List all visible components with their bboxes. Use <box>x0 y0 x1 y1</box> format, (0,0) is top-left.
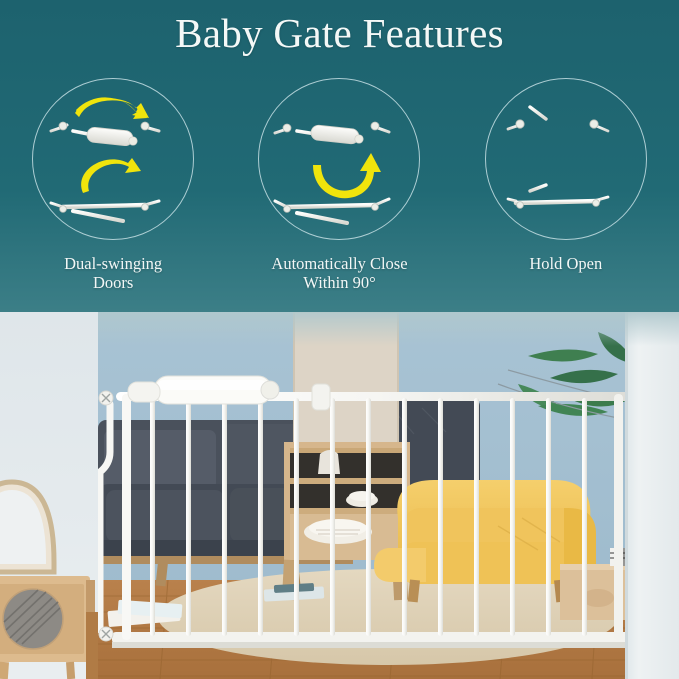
page-title: Baby Gate Features <box>0 6 679 60</box>
feature-circle-2 <box>258 78 420 240</box>
feature-caption-3: Hold Open <box>529 254 602 273</box>
swing-arrow-top-icon <box>75 97 149 119</box>
feature-circle-3 <box>485 78 647 240</box>
feature-caption-2-line2: Within 90° <box>271 273 407 292</box>
gate-latch <box>312 384 330 410</box>
gate-dual-swing-icon <box>33 79 193 239</box>
gate-auto-close-icon <box>259 79 419 239</box>
vase-decor <box>318 450 340 474</box>
feature-caption-1: Dual-swinging Doors <box>64 254 162 292</box>
feature-circle-1 <box>32 78 194 240</box>
feature-hold-open: Hold Open <box>466 78 666 273</box>
gate-hold-open-icon <box>486 79 646 239</box>
feature-caption-2: Automatically Close Within 90° <box>271 254 407 292</box>
right-wall <box>625 312 679 679</box>
product-photo <box>98 312 679 679</box>
feature-dual-swinging-doors: Dual-swinging Doors <box>13 78 213 292</box>
photo-left-strip <box>0 312 98 679</box>
swing-arrow-bottom-icon <box>81 158 141 193</box>
feature-caption-3-line1: Hold Open <box>529 254 602 273</box>
product-infographic: Baby Gate Features <box>0 0 679 679</box>
feature-automatically-close: Automatically Close Within 90° <box>239 78 439 292</box>
feature-row: Dual-swinging Doors <box>0 78 679 303</box>
feature-caption-1-line2: Doors <box>64 273 162 292</box>
feature-caption-2-line1: Automatically Close <box>271 254 407 273</box>
feature-caption-1-line1: Dual-swinging <box>64 254 162 273</box>
